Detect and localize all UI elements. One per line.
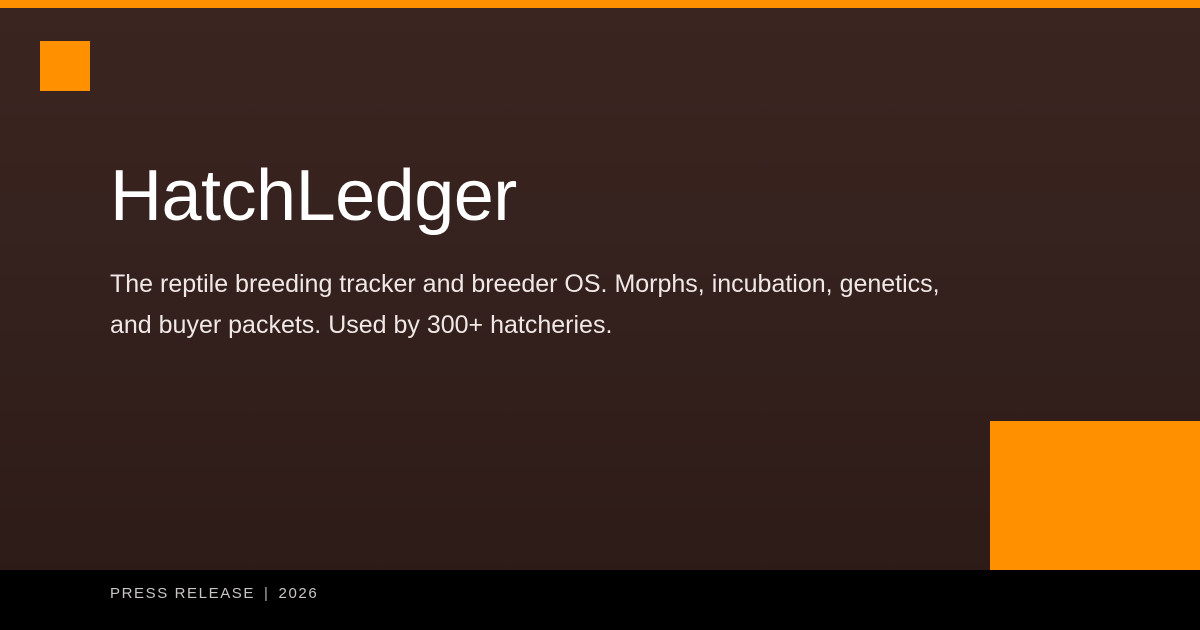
page-title: HatchLedger	[110, 160, 1010, 232]
footer-meta: PRESS RELEASE|2026	[110, 585, 318, 602]
slide-content: HatchLedger The reptile breeding tracker…	[110, 160, 1010, 346]
slide-subtitle: The reptile breeding tracker and breeder…	[110, 232, 950, 346]
footer-label: PRESS RELEASE	[110, 585, 255, 602]
accent-block-decoration	[990, 421, 1200, 570]
logo-mark-icon	[40, 41, 90, 91]
press-release-slide: HatchLedger The reptile breeding tracker…	[0, 0, 1200, 630]
footer-separator: |	[255, 585, 279, 602]
top-accent-bar	[0, 0, 1200, 8]
footer-year: 2026	[279, 585, 319, 602]
